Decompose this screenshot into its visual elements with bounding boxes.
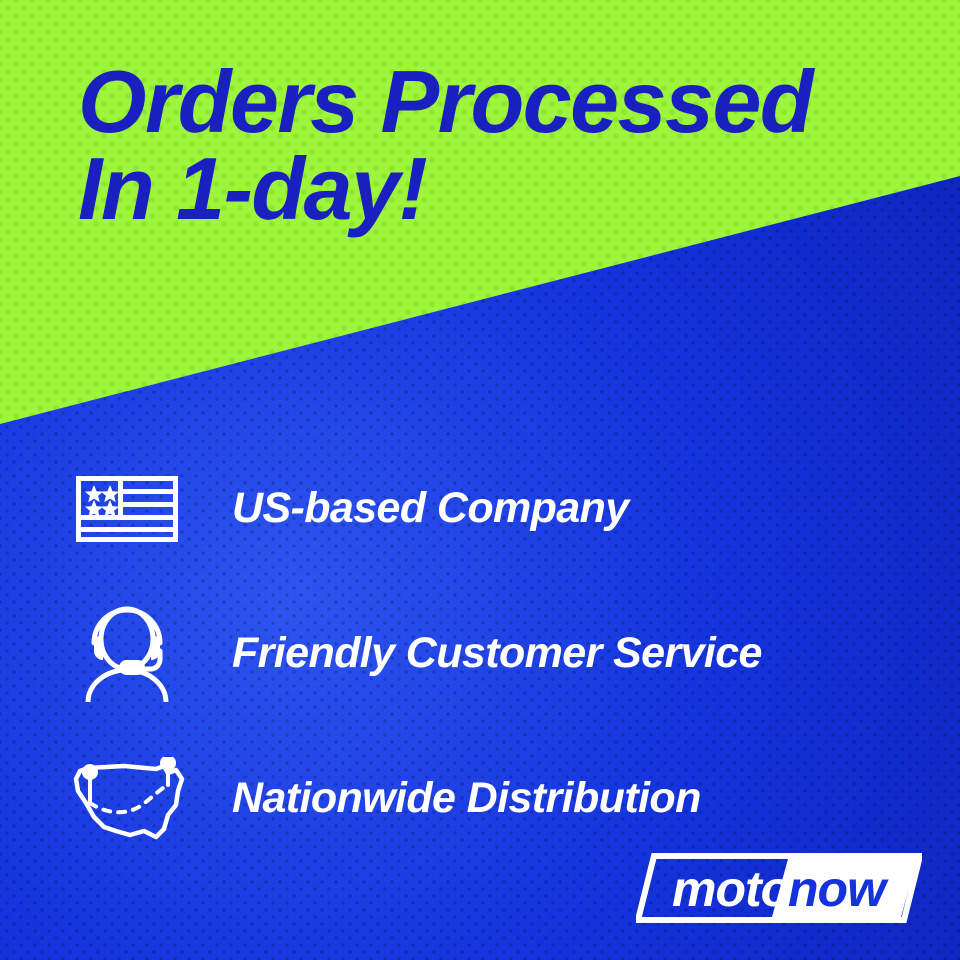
motonow-logo: moto now [636, 852, 922, 924]
feature-item: Friendly Customer Service [0, 581, 960, 726]
logo-word-now: now [788, 861, 889, 917]
feature-label: US-based Company [232, 484, 629, 533]
feature-list: US-based Company Friendly Customer Servi… [0, 436, 960, 871]
feature-label: Friendly Customer Service [232, 629, 762, 678]
promo-banner: Orders Processed In 1-day! [0, 0, 960, 960]
headline: Orders Processed In 1-day! [78, 58, 938, 232]
feature-item: US-based Company [0, 436, 960, 581]
feature-label: Nationwide Distribution [232, 774, 701, 823]
feature-item: Nationwide Distribution [0, 726, 960, 871]
us-flag-icon [52, 454, 202, 564]
headset-support-icon [52, 599, 202, 709]
us-map-route-icon [52, 744, 202, 854]
logo-word-moto: moto [672, 861, 790, 917]
